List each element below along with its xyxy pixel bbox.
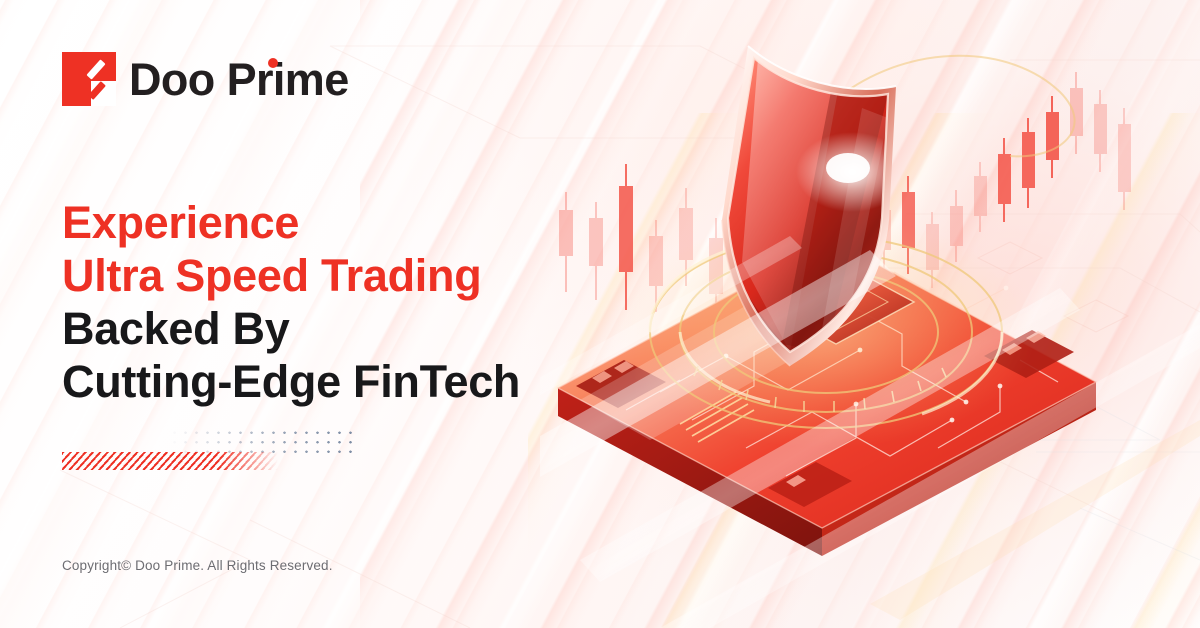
headline-line-3: Backed By (62, 302, 520, 355)
decorative-accents (62, 428, 362, 472)
hero-banner: Doo Prime Experience Ultra Speed Trading… (0, 0, 1200, 628)
headline-line-1: Experience (62, 196, 520, 249)
headline-line-2: Ultra Speed Trading (62, 249, 520, 302)
headline-line-4: Cutting-Edge FinTech (62, 355, 520, 408)
brand-logo[interactable]: Doo Prime (62, 52, 349, 106)
hero-artwork (540, 0, 1200, 628)
content-column: Doo Prime Experience Ultra Speed Trading… (58, 0, 618, 628)
brand-wordmark: Doo Prime (129, 57, 349, 102)
wordmark-dot-accent (268, 58, 278, 68)
copyright-text: Copyright© Doo Prime. All Rights Reserve… (62, 558, 333, 573)
hatch-bar-decoration (62, 452, 278, 470)
brand-name-text: Doo Prime (129, 54, 349, 105)
doo-prime-logo-mark-icon (62, 52, 116, 106)
headline: Experience Ultra Speed Trading Backed By… (62, 196, 520, 408)
